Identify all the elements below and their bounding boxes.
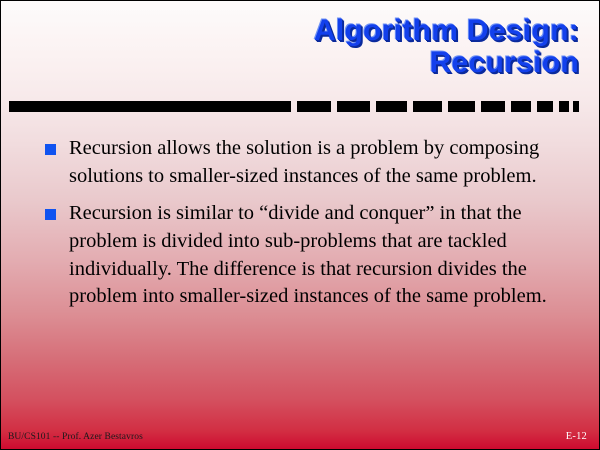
square-bullet-icon: [45, 144, 56, 155]
square-bullet-icon: [45, 209, 56, 220]
divider-segment-10: [559, 101, 569, 112]
divider-segment-1: [9, 101, 291, 112]
divider-segment-4: [376, 101, 407, 112]
bullet-text-2: Recursion is similar to “divide and conq…: [69, 200, 561, 312]
list-item: Recursion is similar to “divide and conq…: [45, 200, 561, 312]
bullet-text-1: Recursion allows the solution is a probl…: [69, 135, 561, 191]
title-line-1: Algorithm Design:: [31, 15, 579, 47]
slide-title: Algorithm Design: Recursion: [31, 15, 579, 78]
divider-segment-11: [573, 101, 579, 112]
footer-slide-number: E-12: [566, 431, 587, 442]
divider-segment-6: [448, 101, 475, 112]
footer-course-credit: BU/CS101 -- Prof. Azer Bestavros: [8, 432, 143, 442]
list-item: Recursion allows the solution is a probl…: [45, 135, 561, 191]
title-line-2: Recursion: [31, 47, 579, 79]
divider-segment-9: [537, 101, 553, 112]
divider-segment-5: [413, 101, 442, 112]
slide-canvas: Algorithm Design: Recursion Recursion al…: [0, 0, 600, 450]
divider-segment-3: [337, 101, 370, 112]
divider-segment-8: [511, 101, 531, 112]
title-divider-rule: [9, 101, 593, 112]
divider-segment-7: [481, 101, 505, 112]
divider-segment-2: [297, 101, 331, 112]
slide-body: Recursion allows the solution is a probl…: [45, 135, 561, 320]
